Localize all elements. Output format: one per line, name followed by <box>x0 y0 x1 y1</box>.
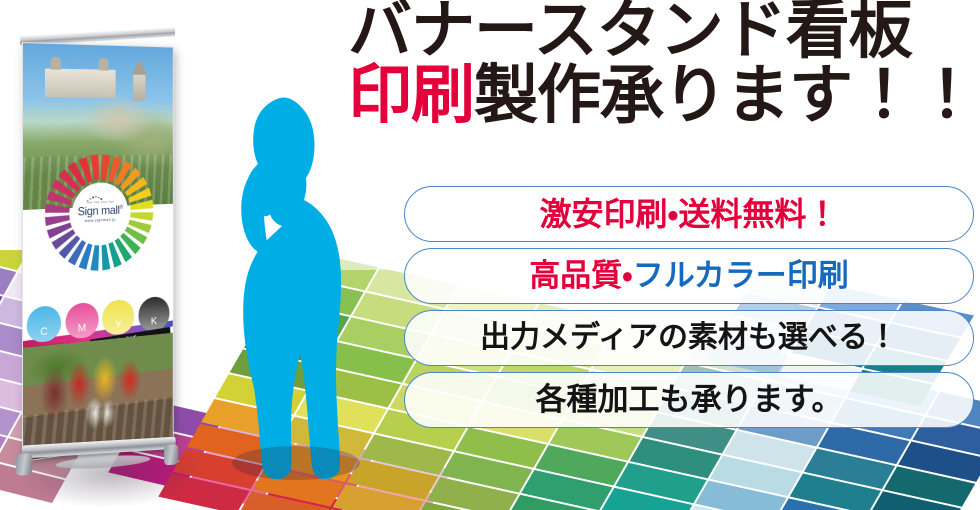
feature-pill-1[interactable]: 激安印刷・送料無料！ <box>404 186 974 242</box>
feature-pill-2[interactable]: 高品質・フルカラー印刷 <box>404 248 974 304</box>
cmyk-m: M <box>65 302 98 340</box>
feature-pill-4-label: 各種加工も承ります。 <box>536 385 843 416</box>
base-cassette <box>22 437 176 459</box>
logo-dots <box>87 196 105 203</box>
feature-pill-3[interactable]: 出力メディアの素材も選べる！ <box>404 310 974 366</box>
feature-pill-2-label: 高品質・フルカラー印刷 <box>529 261 849 292</box>
color-wheel: Look, Feel, Enjoy Sign Sign mall® www.si… <box>41 149 156 278</box>
cmyk-y: Y <box>102 299 134 336</box>
feature-pill-2-label-blue: フルカラー印刷 <box>633 258 849 294</box>
feature-pill-3-label: 出力メディアの素材も選べる！ <box>480 323 898 353</box>
roll-up-banner-stand: Look, Feel, Enjoy Sign Sign mall® www.si… <box>18 38 210 490</box>
logo-brand: Sign mall® <box>78 204 123 218</box>
banner-advertisement: Look, Feel, Enjoy Sign Sign mall® www.si… <box>0 0 980 510</box>
feature-pill-4[interactable]: 各種加工も承ります。 <box>404 372 974 428</box>
headline: バナースタンド看板 印刷製作承ります！！ <box>348 2 976 126</box>
headline-rest: 製作承ります！！ <box>474 59 978 133</box>
castle-shape <box>45 69 115 98</box>
headline-line-1: バナースタンド看板 <box>348 2 976 61</box>
logo-url: www.signmall.jp <box>85 218 116 223</box>
base-foot-right <box>164 444 178 465</box>
person-shadow <box>232 446 360 480</box>
headline-line-2: 印刷製作承ります！！ <box>348 67 976 126</box>
feature-list: 激安印刷・送料無料！ 高品質・フルカラー印刷 出力メディアの素材も選べる！ 各種… <box>404 186 974 434</box>
feature-pill-1-label: 激安印刷・送料無料！ <box>540 198 839 230</box>
cmyk-c: C <box>27 305 61 344</box>
church-tower-shape <box>133 73 146 100</box>
banner-artwork: Look, Feel, Enjoy Sign Sign mall® www.si… <box>22 42 174 462</box>
headline-accent-word: 印刷 <box>348 59 474 133</box>
feature-pill-2-label-red: 高品質・ <box>529 258 633 294</box>
base-foot-left <box>16 453 32 476</box>
